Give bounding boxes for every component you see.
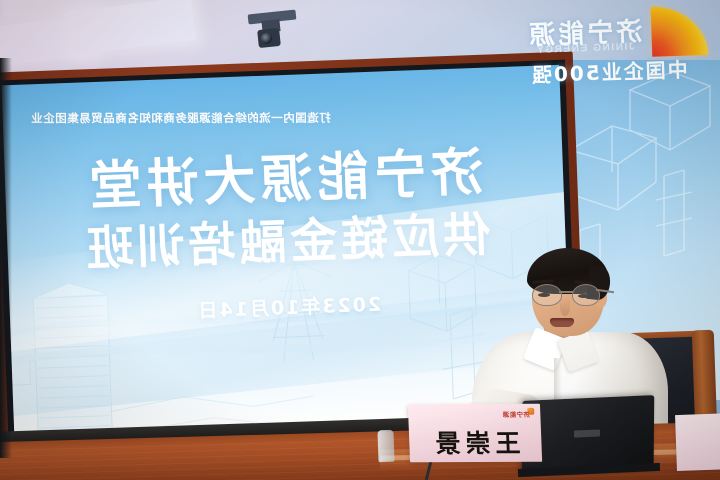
- laptop-lid: [522, 395, 655, 475]
- water-bottle: [377, 430, 394, 463]
- placard-name: 王崇景: [409, 424, 542, 460]
- slide-subtitle: 打造国内一流的综合能源服务商和知名商品贸易集团企业: [31, 110, 331, 127]
- person-mouth: [550, 318, 574, 327]
- ceiling-camera: [248, 12, 296, 54]
- brand-award-badge: 中国企业500强: [510, 53, 707, 89]
- person-nose: [560, 298, 570, 316]
- glasses-lens: [572, 284, 600, 306]
- name-placard-secondary: [675, 413, 720, 471]
- name-placard: 济宁能源 王崇景: [408, 404, 542, 462]
- glasses-lens: [532, 284, 562, 306]
- laptop-brand-logo-icon: [574, 429, 600, 437]
- screenshot-root: 打造国内一流的综合能源服务商和知名商品贸易集团企业 济宁能源大讲堂 供应链金融培…: [0, 0, 720, 480]
- placard-org-mark: 济宁能源: [502, 409, 530, 419]
- glasses-bridge: [559, 291, 573, 293]
- brand-logo-block: 济宁能源 JINING ENERGY 中国企业500强: [514, 0, 720, 98]
- sunburst-fan-icon: [651, 5, 709, 57]
- camera-lens-icon: [261, 33, 272, 44]
